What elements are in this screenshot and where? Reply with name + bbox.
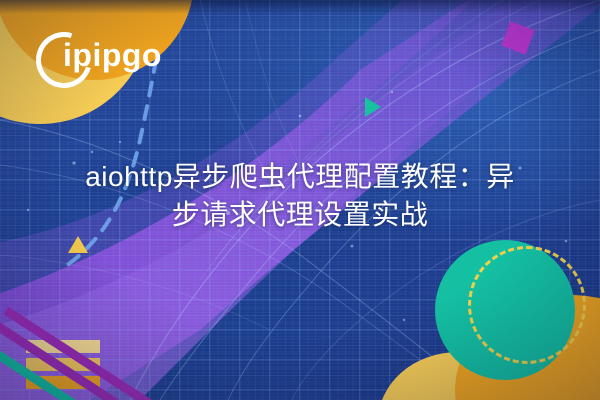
banner-canvas: ipipgo aiohttp异步爬虫代理配置教程：异 步请求代理设置实战 bbox=[0, 0, 600, 400]
page-title-line-2: 步请求代理设置实战 bbox=[30, 196, 570, 234]
top-edge-shade bbox=[0, 0, 600, 14]
page-title-line-1: aiohttp异步爬虫代理配置教程：异 bbox=[30, 158, 570, 196]
page-title: aiohttp异步爬虫代理配置教程：异 步请求代理设置实战 bbox=[30, 158, 570, 234]
brand-logo-text: ipipgo bbox=[63, 37, 162, 73]
brand-logo[interactable]: ipipgo bbox=[36, 28, 196, 84]
